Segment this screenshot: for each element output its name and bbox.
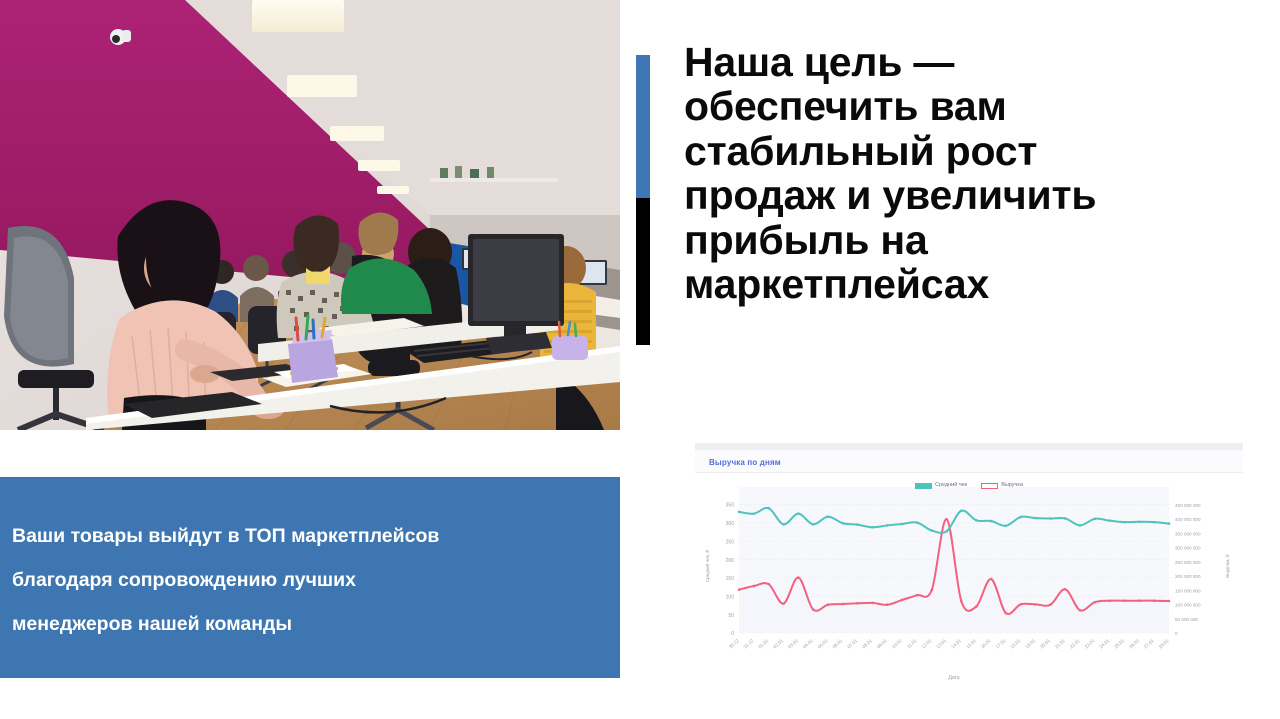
x-axis-tick: 19.01 — [1024, 638, 1036, 650]
y-axis-right-tick: 50 000 000 — [1175, 617, 1198, 622]
x-axis-tick: 17.01 — [995, 638, 1007, 650]
office-team-photo — [0, 0, 620, 430]
x-axis-tick: 15.01 — [965, 638, 977, 650]
panel-header: Выручка по дням — [695, 450, 1243, 473]
average-check-point — [1168, 522, 1171, 525]
y-axis-left-tick: 150 — [726, 576, 735, 582]
average-check-point — [767, 507, 770, 510]
y-axis-right-tick: 400 000 000 — [1175, 517, 1201, 522]
revenue-point — [1123, 599, 1126, 602]
x-axis-title: Дата — [948, 675, 959, 681]
legend-item-average-check[interactable]: Средний чек — [915, 483, 967, 489]
highlight-callout-block: Ваши товары выйдут в ТОП маркетплейсов б… — [0, 477, 620, 678]
revenue-point — [1094, 601, 1097, 604]
average-check-point — [797, 512, 800, 515]
panel-title: Выручка по дням — [709, 458, 781, 467]
x-axis-tick: 07.01 — [846, 638, 858, 650]
x-axis-tick: 28.01 — [1158, 638, 1170, 650]
average-check-point — [916, 521, 919, 524]
x-axis-tick: 25.01 — [1113, 638, 1125, 650]
revenue-point — [1138, 599, 1141, 602]
x-axis-tick: 02.01 — [772, 638, 784, 650]
revenue-point — [1108, 599, 1111, 602]
revenue-point — [1153, 599, 1156, 602]
revenue-point — [960, 600, 963, 603]
x-axis-tick: 09.01 — [876, 638, 888, 650]
average-check-point — [990, 520, 993, 523]
average-check-point — [782, 523, 785, 526]
x-axis-tick: 08.01 — [861, 638, 873, 650]
revenue-point — [856, 602, 859, 605]
average-check-point — [1123, 521, 1126, 524]
revenue-point — [812, 608, 815, 611]
x-axis-tick: 10.01 — [891, 638, 903, 650]
x-axis-tick: 05.01 — [817, 638, 829, 650]
x-axis-tick: 12.01 — [921, 638, 933, 650]
x-axis-tick: 01.01 — [757, 638, 769, 650]
legend-swatch-icon — [981, 483, 998, 489]
average-check-point — [975, 519, 978, 522]
revenue-point — [827, 603, 830, 606]
x-axis-tick: 14.01 — [950, 638, 962, 650]
average-check-point — [738, 511, 741, 514]
heading-accent-bars — [636, 55, 650, 345]
photo-illustration — [0, 0, 620, 430]
panel-top-strip — [695, 443, 1243, 450]
revenue-point — [797, 576, 800, 579]
revenue-point — [1019, 603, 1022, 606]
revenue-point — [1034, 603, 1037, 606]
revenue-point — [1079, 609, 1082, 612]
average-check-point — [1153, 521, 1156, 524]
average-check-point — [1005, 525, 1008, 528]
chart-legend: Средний чек Выручка — [695, 483, 1243, 489]
x-axis-tick: 23.01 — [1084, 638, 1096, 650]
average-check-point — [1034, 517, 1037, 520]
callout-line-2: благодаря сопровождению лучших — [12, 558, 612, 602]
chart-area: 050100150200250300350050 000 000100 000 … — [695, 473, 1243, 691]
revenue-point — [1168, 600, 1171, 603]
y-axis-left-tick: 100 — [726, 594, 735, 600]
y-axis-left-tick: 350 — [726, 503, 735, 509]
x-axis-tick: 24.01 — [1098, 638, 1110, 650]
legend-item-revenue[interactable]: Выручка — [981, 483, 1023, 489]
average-check-point — [812, 523, 815, 526]
average-check-point — [960, 509, 963, 512]
average-check-point — [901, 523, 904, 526]
x-axis-tick: 04.01 — [802, 638, 814, 650]
x-axis-tick: 30.12 — [728, 638, 740, 650]
y-axis-right-tick: 300 000 000 — [1175, 546, 1201, 551]
average-check-point — [753, 512, 756, 515]
y-axis-left-tick: 300 — [726, 521, 735, 527]
x-axis-tick: 27.01 — [1143, 638, 1155, 650]
y-axis-right-tick: 150 000 000 — [1175, 588, 1201, 593]
y-axis-right-tick: 200 000 000 — [1175, 574, 1201, 579]
x-axis-tick: 16.01 — [980, 638, 992, 650]
legend-swatch-icon — [915, 483, 932, 489]
revenue-point — [871, 602, 874, 605]
revenue-line-chart: 050100150200250300350050 000 000100 000 … — [695, 473, 1243, 691]
x-axis-tick: 13.01 — [935, 638, 947, 650]
y-axis-left-tick: 250 — [726, 539, 735, 545]
average-check-point — [1064, 517, 1067, 520]
accent-bar-blue — [636, 55, 650, 198]
average-check-point — [1108, 519, 1111, 522]
x-axis-tick: 21.01 — [1054, 638, 1066, 650]
average-check-point — [827, 515, 830, 518]
callout-text: Ваши товары выйдут в ТОП маркетплейсов б… — [12, 514, 612, 646]
average-check-point — [1094, 518, 1097, 521]
revenue-point — [767, 583, 770, 586]
average-check-point — [886, 524, 889, 527]
y-axis-right-tick: 100 000 000 — [1175, 603, 1201, 608]
revenue-point — [782, 602, 785, 605]
revenue-point — [945, 518, 948, 521]
accent-bar-black — [636, 198, 650, 345]
average-check-point — [841, 522, 844, 525]
average-check-point — [1079, 524, 1082, 527]
average-check-point — [945, 530, 948, 533]
revenue-point — [990, 578, 993, 581]
y-axis-right-tick: 0 — [1175, 631, 1178, 636]
y-axis-left-title: Средний чек, ₽ — [704, 549, 710, 582]
y-axis-left-tick: 200 — [726, 558, 735, 564]
y-axis-left-tick: 50 — [728, 613, 734, 619]
x-axis-tick: 26.01 — [1128, 638, 1140, 650]
revenue-point — [753, 585, 756, 588]
revenue-point — [1049, 603, 1052, 606]
y-axis-left-tick: 0 — [731, 631, 734, 637]
legend-label: Выручка — [1001, 483, 1023, 489]
y-axis-right-tick: 450 000 000 — [1175, 503, 1201, 508]
revenue-point — [738, 588, 741, 591]
average-check-point — [871, 526, 874, 529]
x-axis-tick: 03.01 — [787, 638, 799, 650]
x-axis-tick: 18.01 — [1010, 638, 1022, 650]
average-check-point — [856, 523, 859, 526]
x-axis-tick: 20.01 — [1039, 638, 1051, 650]
legend-label: Средний чек — [935, 483, 967, 489]
callout-line-1: Ваши товары выйдут в ТОП маркетплейсов — [12, 514, 612, 558]
y-axis-right-tick: 250 000 000 — [1175, 560, 1201, 565]
x-axis-tick: 31.12 — [743, 638, 755, 650]
x-axis-tick: 11.01 — [906, 638, 918, 649]
revenue-point — [1005, 612, 1008, 615]
x-axis-tick: 06.01 — [832, 638, 844, 650]
y-axis-right-title: Выручка, ₽ — [1225, 553, 1230, 578]
revenue-chart-panel: Выручка по дням 050100150200250300350050… — [695, 443, 1243, 691]
page-title: Наша цель — обеспечить вам стабильный ро… — [684, 40, 1184, 307]
revenue-point — [886, 603, 889, 606]
y-axis-right-tick: 350 000 000 — [1175, 531, 1201, 536]
revenue-point — [930, 589, 933, 592]
revenue-point — [901, 599, 904, 602]
revenue-point — [916, 594, 919, 597]
revenue-point — [1064, 588, 1067, 591]
average-check-point — [1019, 516, 1022, 519]
average-check-point — [930, 529, 933, 532]
average-check-point — [1049, 517, 1052, 520]
average-check-point — [1138, 520, 1141, 523]
revenue-point — [841, 603, 844, 606]
revenue-point — [975, 605, 978, 608]
x-axis-tick: 22.01 — [1069, 638, 1081, 650]
callout-line-3: менеджеров нашей команды — [12, 602, 612, 646]
